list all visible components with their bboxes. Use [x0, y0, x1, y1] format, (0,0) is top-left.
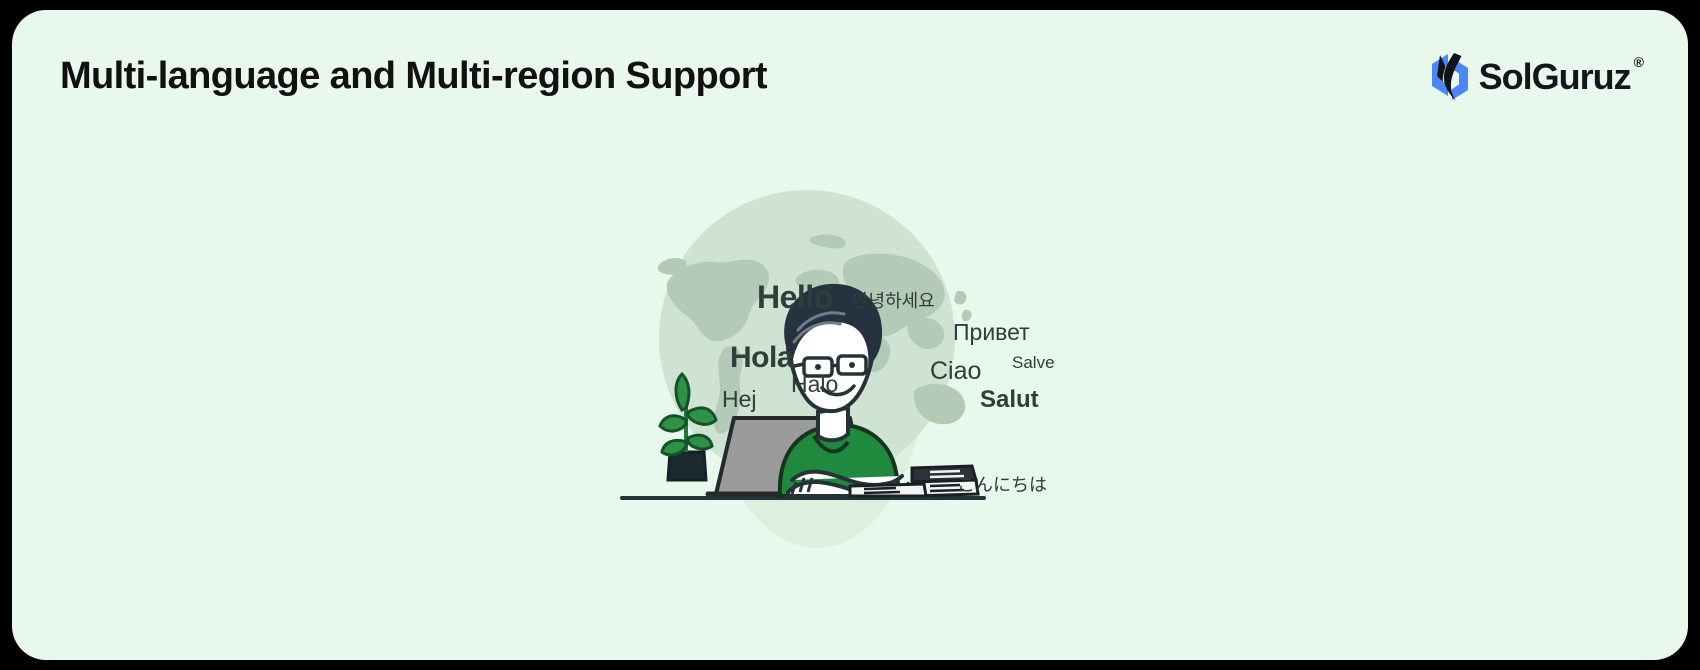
- solguruz-hexagon-swoosh-icon: [1428, 52, 1472, 102]
- slide-card: Multi-language and Multi-region Support …: [12, 10, 1688, 660]
- greeting-halo: Halo: [791, 373, 838, 396]
- greeting-hola: Hola: [730, 343, 793, 373]
- brand-logo: SolGuruz ®: [1428, 52, 1644, 102]
- greeting-privet: Привет: [953, 321, 1030, 344]
- greeting-japanese: こんにちは: [957, 476, 1047, 494]
- brand-wordmark: SolGuruz: [1479, 59, 1631, 95]
- registered-trademark-symbol: ®: [1634, 54, 1644, 70]
- greeting-hej: Hej: [722, 388, 757, 411]
- greeting-salut: Salut: [980, 388, 1039, 412]
- greeting-korean: 안녕하세요: [852, 292, 935, 310]
- greeting-hello: Hello: [757, 281, 833, 313]
- greeting-ciao: Ciao: [930, 359, 981, 384]
- greeting-salve: Salve: [1012, 354, 1055, 371]
- page-title: Multi-language and Multi-region Support: [60, 55, 767, 98]
